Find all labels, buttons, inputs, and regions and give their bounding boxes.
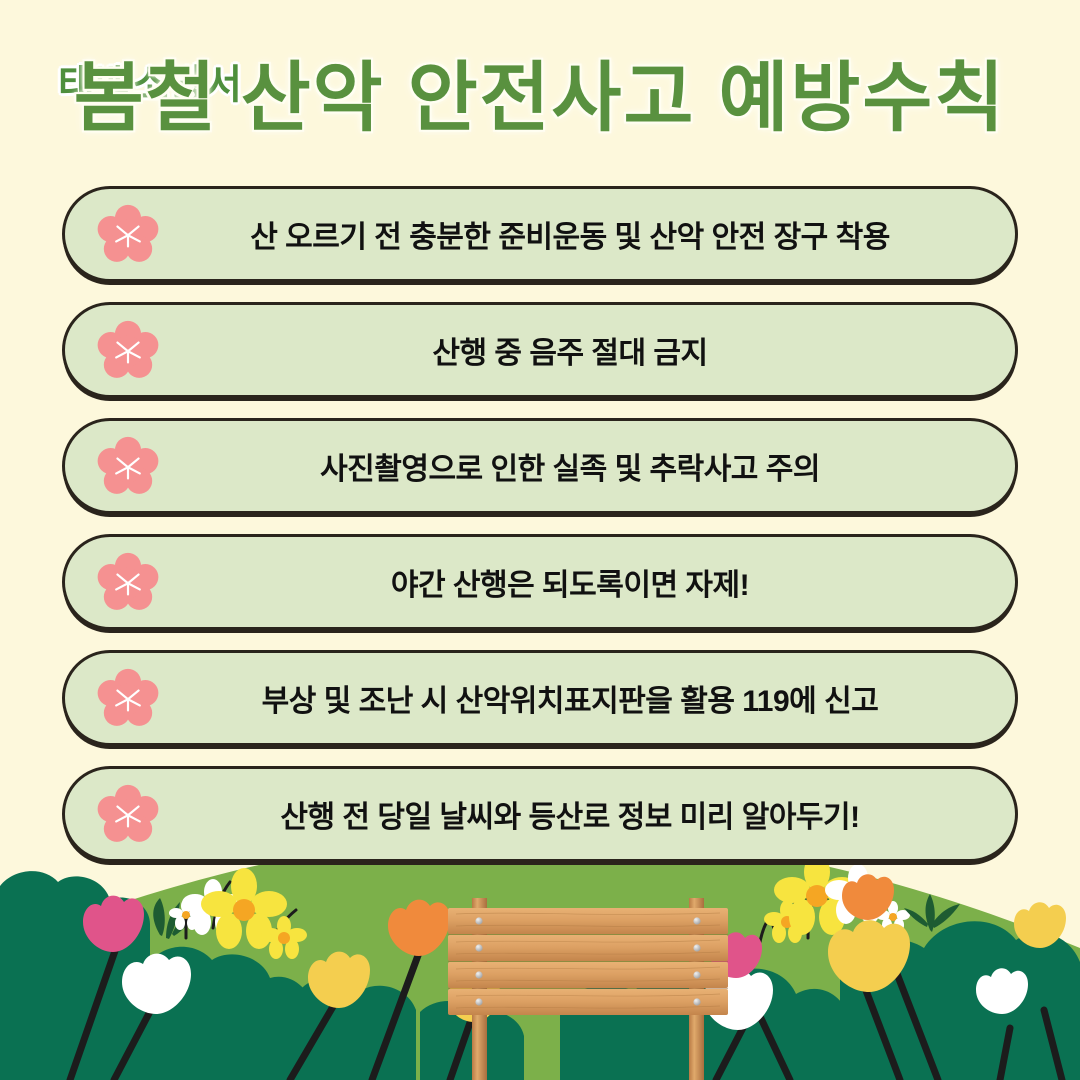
cherry-blossom-icon [97, 319, 159, 381]
list-item-label: 산행 중 음주 절대 금지 [65, 328, 1015, 372]
list-item[interactable]: 야간 산행은 되도록이면 자제! [62, 534, 1018, 630]
list-item[interactable]: 산행 전 당일 날씨와 등산로 정보 미리 알아두기! [62, 766, 1018, 862]
list-item-label: 산행 전 당일 날씨와 등산로 정보 미리 알아두기! [65, 792, 1015, 836]
cherry-blossom-icon [97, 551, 159, 613]
safety-rules-list: 산 오르기 전 충분한 준비운동 및 산악 안전 장구 착용 산행 중 음주 절… [62, 186, 1018, 882]
cherry-blossom-icon [97, 203, 159, 265]
page-title: 봄철 산악 안전사고 예방수칙 [0, 36, 1080, 146]
cherry-blossom-icon [97, 667, 159, 729]
cherry-blossom-icon [97, 435, 159, 497]
list-item[interactable]: 산 오르기 전 충분한 준비운동 및 산악 안전 장구 착용 [62, 186, 1018, 282]
list-item-label: 사진촬영으로 인한 실족 및 추락사고 주의 [65, 444, 1015, 488]
wooden-sign[interactable] [438, 890, 738, 1080]
list-item-label: 야간 산행은 되도록이면 자제! [65, 560, 1015, 604]
list-item-label: 부상 및 조난 시 산악위치표지판을 활용 119에 신고 [65, 676, 1015, 720]
list-item-label: 산 오르기 전 충분한 준비운동 및 산악 안전 장구 착용 [65, 212, 1015, 256]
list-item[interactable]: 사진촬영으로 인한 실족 및 추락사고 주의 [62, 418, 1018, 514]
list-item[interactable]: 산행 중 음주 절대 금지 [62, 302, 1018, 398]
list-item[interactable]: 부상 및 조난 시 산악위치표지판을 활용 119에 신고 [62, 650, 1018, 746]
cherry-blossom-icon [97, 783, 159, 845]
sign-planks [448, 908, 728, 1015]
poster-canvas: 봄철 산악 안전사고 예방수칙 산 오르기 전 충분한 준비운동 및 산악 안전… [0, 0, 1080, 1080]
